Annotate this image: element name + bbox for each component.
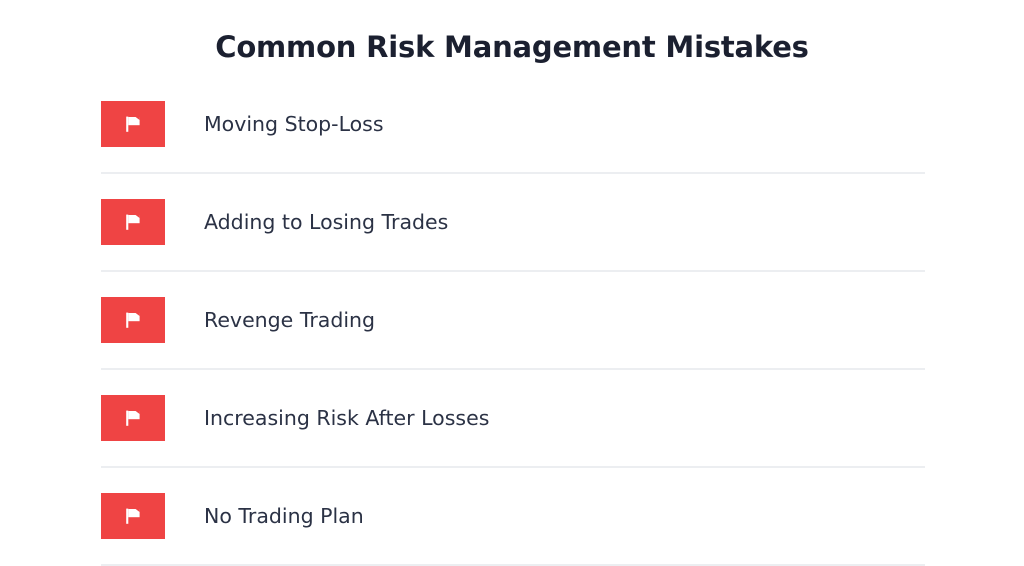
flag-icon	[122, 505, 144, 527]
flag-badge	[101, 395, 165, 441]
flag-icon	[122, 309, 144, 331]
flag-badge	[101, 493, 165, 539]
flag-badge	[101, 101, 165, 147]
slide-root: Common Risk Management Mistakes Moving S…	[0, 0, 1024, 565]
list-item[interactable]: No Trading Plan	[101, 493, 925, 539]
list-item-label: Increasing Risk After Losses	[204, 404, 489, 432]
flag-icon	[122, 407, 144, 429]
row-spacer	[101, 539, 925, 564]
mistakes-list: Moving Stop-Loss Adding to Losing Trades	[101, 101, 925, 566]
row-spacer	[101, 343, 925, 368]
flag-icon	[122, 113, 144, 135]
row-spacer	[101, 370, 925, 395]
row-spacer	[101, 245, 925, 270]
list-item[interactable]: Revenge Trading	[101, 297, 925, 343]
flag-badge	[101, 297, 165, 343]
list-item[interactable]: Adding to Losing Trades	[101, 199, 925, 245]
row-spacer	[101, 174, 925, 199]
list-item-label: Moving Stop-Loss	[204, 110, 384, 138]
list-item[interactable]: Moving Stop-Loss	[101, 101, 925, 147]
row-spacer	[101, 468, 925, 493]
row-spacer	[101, 147, 925, 172]
row-spacer	[101, 272, 925, 297]
page-title: Common Risk Management Mistakes	[0, 27, 1024, 67]
list-item-label: Adding to Losing Trades	[204, 208, 448, 236]
list-item[interactable]: Increasing Risk After Losses	[101, 395, 925, 441]
list-item-label: No Trading Plan	[204, 502, 364, 530]
list-item-label: Revenge Trading	[204, 306, 375, 334]
row-spacer	[101, 441, 925, 466]
flag-icon	[122, 211, 144, 233]
flag-badge	[101, 199, 165, 245]
